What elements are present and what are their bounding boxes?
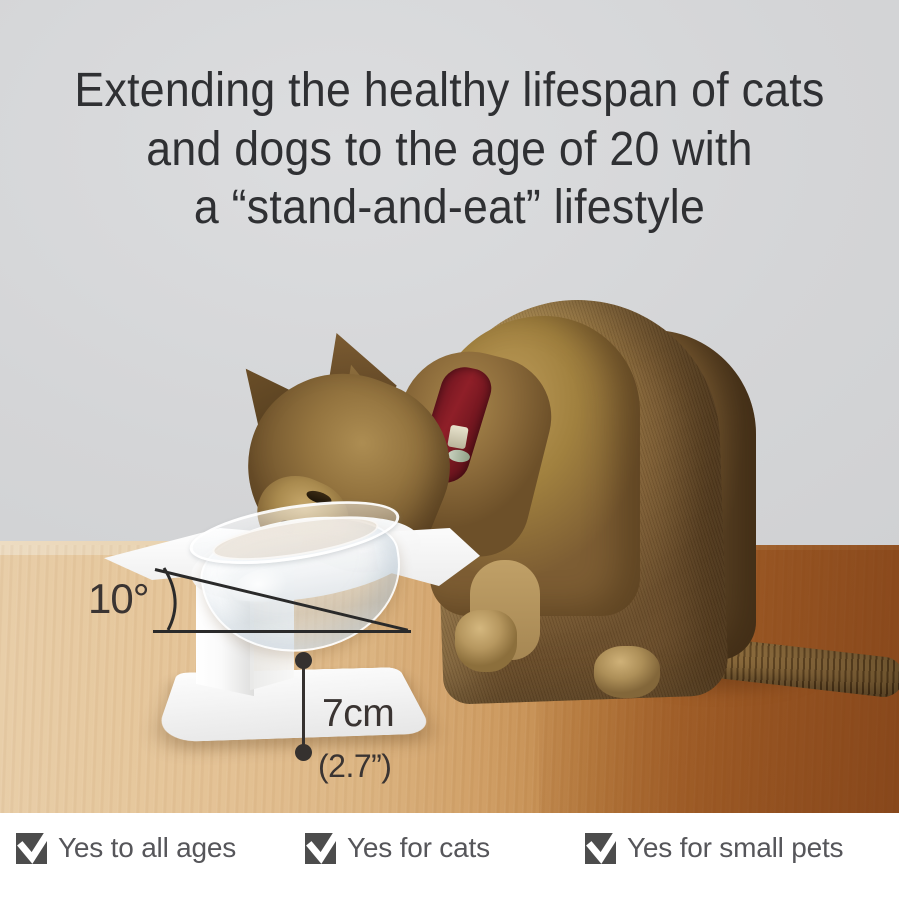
checkmark-icon bbox=[16, 833, 47, 864]
product-ad-banner: 10° 7cm (2.7”) Extending the healthy lif… bbox=[0, 0, 899, 900]
feature-label: Yes to all ages bbox=[58, 832, 236, 864]
checkmark-icon bbox=[585, 833, 616, 864]
feature-label: Yes for small pets bbox=[627, 832, 843, 864]
checkmark-icon bbox=[305, 833, 336, 864]
headline-line-1: Extending the healthy lifespan of cats bbox=[31, 62, 867, 121]
headline-line-2: and dogs to the age of 20 with bbox=[31, 121, 867, 180]
height-value-inch-label: (2.7”) bbox=[318, 748, 391, 785]
feature-item-all-ages: Yes to all ages bbox=[16, 832, 236, 864]
feature-item-cats: Yes for cats bbox=[305, 832, 490, 864]
feature-label: Yes for cats bbox=[347, 832, 490, 864]
height-measure-line bbox=[302, 660, 305, 752]
angle-value-label: 10° bbox=[88, 575, 149, 623]
angle-arc-icon bbox=[158, 566, 226, 636]
height-marker-bottom-dot bbox=[295, 744, 312, 761]
headline: Extending the healthy lifespan of cats a… bbox=[0, 62, 899, 238]
headline-line-3: a “stand-and-eat” lifestyle bbox=[31, 179, 867, 238]
feature-bar: Yes to all ages Yes for cats Yes for sma… bbox=[0, 813, 899, 900]
feature-item-small-pets: Yes for small pets bbox=[585, 832, 843, 864]
height-value-cm-label: 7cm bbox=[322, 692, 394, 736]
